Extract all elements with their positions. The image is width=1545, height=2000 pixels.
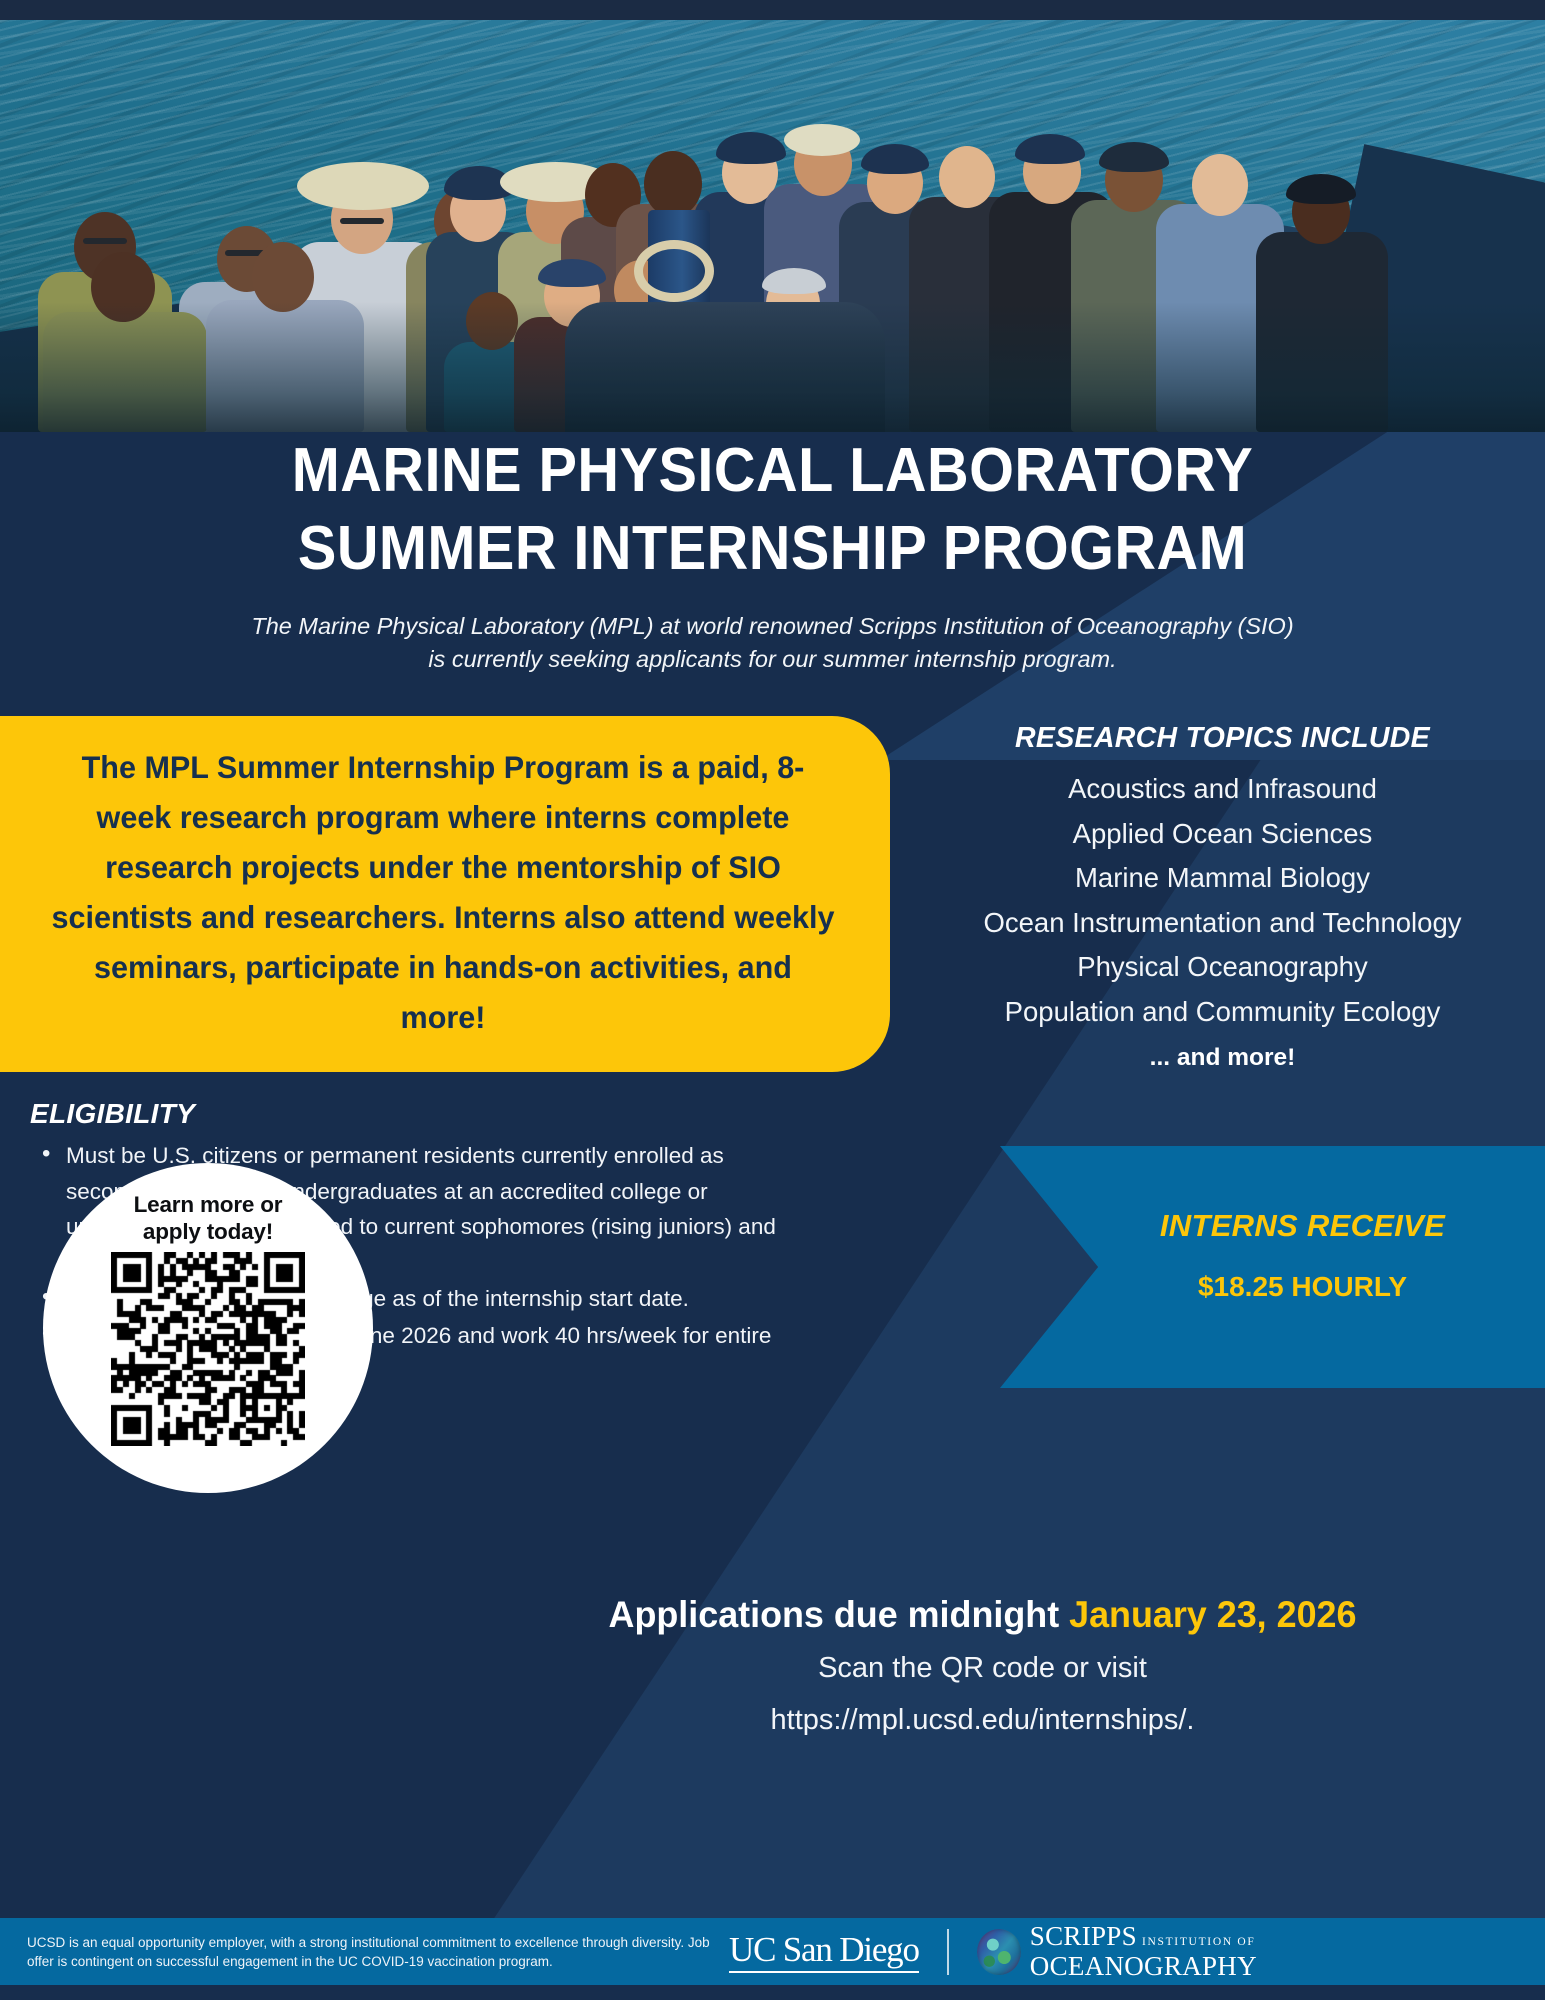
person-cap — [1286, 174, 1356, 204]
footer-logos: UC San Diego SCRIPPS INSTITUTION OF OCEA… — [729, 1923, 1257, 1980]
interns-receive-heading: INTERNS RECEIVE — [1060, 1208, 1545, 1244]
footer: UCSD is an equal opportunity employer, w… — [0, 1918, 1545, 1985]
application-deadline-section: Applications due midnight January 23, 20… — [420, 1592, 1545, 1742]
qr-code-icon[interactable] — [111, 1252, 305, 1446]
scripps-small: INSTITUTION OF — [1142, 1937, 1256, 1949]
footer-disclaimer: UCSD is an equal opportunity employer, w… — [27, 1933, 717, 1971]
qr-caption-line-2: apply today! — [134, 1218, 283, 1245]
person-head — [1192, 154, 1248, 216]
interns-receive-rate: $18.25 HOURLY — [1060, 1271, 1545, 1303]
interns-receive-banner: INTERNS RECEIVE $18.25 HOURLY — [1000, 1146, 1545, 1388]
person-sunglasses — [340, 218, 384, 224]
list-item: Physical Oceanography — [900, 945, 1545, 990]
program-callout-text: The MPL Summer Internship Program is a p… — [48, 742, 838, 1042]
globe-icon — [977, 1929, 1021, 1975]
page-subtitle: The Marine Physical Laboratory (MPL) at … — [243, 610, 1303, 676]
ucsd-logo: UC San Diego — [729, 1931, 919, 1973]
eligibility-heading: ELIGIBILITY — [30, 1098, 790, 1130]
title-block: MARINE PHYSICAL LABORATORY SUMMER INTERN… — [0, 432, 1545, 676]
scripps-second: OCEANOGRAPHY — [1030, 1953, 1257, 1980]
research-topics-more: ... and more! — [900, 1036, 1545, 1080]
bottom-strip — [0, 1985, 1545, 2000]
qr-caption-line-1: Learn more or — [134, 1191, 283, 1218]
photo-bottom-shade — [0, 302, 1545, 432]
scripps-main: SCRIPPS — [1030, 1923, 1137, 1950]
list-item: Applied Ocean Sciences — [900, 812, 1545, 857]
qr-caption: Learn more or apply today! — [134, 1191, 283, 1245]
scripps-wordmark: SCRIPPS INSTITUTION OF OCEANOGRAPHY — [1030, 1923, 1257, 1980]
research-topics-list: Acoustics and Infrasound Applied Ocean S… — [900, 767, 1545, 1034]
top-strip — [0, 0, 1545, 20]
list-item: Marine Mammal Biology — [900, 856, 1545, 901]
person-sunglasses — [83, 238, 127, 244]
deadline-date: January 23, 2026 — [1069, 1594, 1356, 1635]
apply-url[interactable]: https://mpl.ucsd.edu/internships/. — [420, 1698, 1545, 1742]
research-topics-heading: RESEARCH TOPICS INCLUDE — [900, 722, 1545, 755]
deadline-prefix: Applications due midnight — [609, 1594, 1070, 1635]
list-item: Ocean Instrumentation and Technology — [900, 901, 1545, 946]
list-item: Population and Community Ecology — [900, 990, 1545, 1035]
page-title-line-1: MARINE PHYSICAL LABORATORY — [54, 432, 1491, 510]
group-photo — [0, 20, 1545, 432]
deadline-line: Applications due midnight January 23, 20… — [437, 1592, 1528, 1638]
page-title-line-2: SUMMER INTERNSHIP PROGRAM — [54, 510, 1491, 588]
list-item: Acoustics and Infrasound — [900, 767, 1545, 812]
apply-instruction: Scan the QR code or visit — [420, 1646, 1545, 1690]
logo-divider — [947, 1929, 949, 1975]
qr-panel[interactable]: Learn more or apply today! — [43, 1163, 373, 1493]
coiled-rope — [634, 240, 714, 302]
research-topics-section: RESEARCH TOPICS INCLUDE Acoustics and In… — [900, 722, 1545, 1080]
scripps-logo: SCRIPPS INSTITUTION OF OCEANOGRAPHY — [977, 1923, 1257, 1980]
poster: MARINE PHYSICAL LABORATORY SUMMER INTERN… — [0, 0, 1545, 2000]
program-callout: The MPL Summer Internship Program is a p… — [0, 716, 890, 1072]
